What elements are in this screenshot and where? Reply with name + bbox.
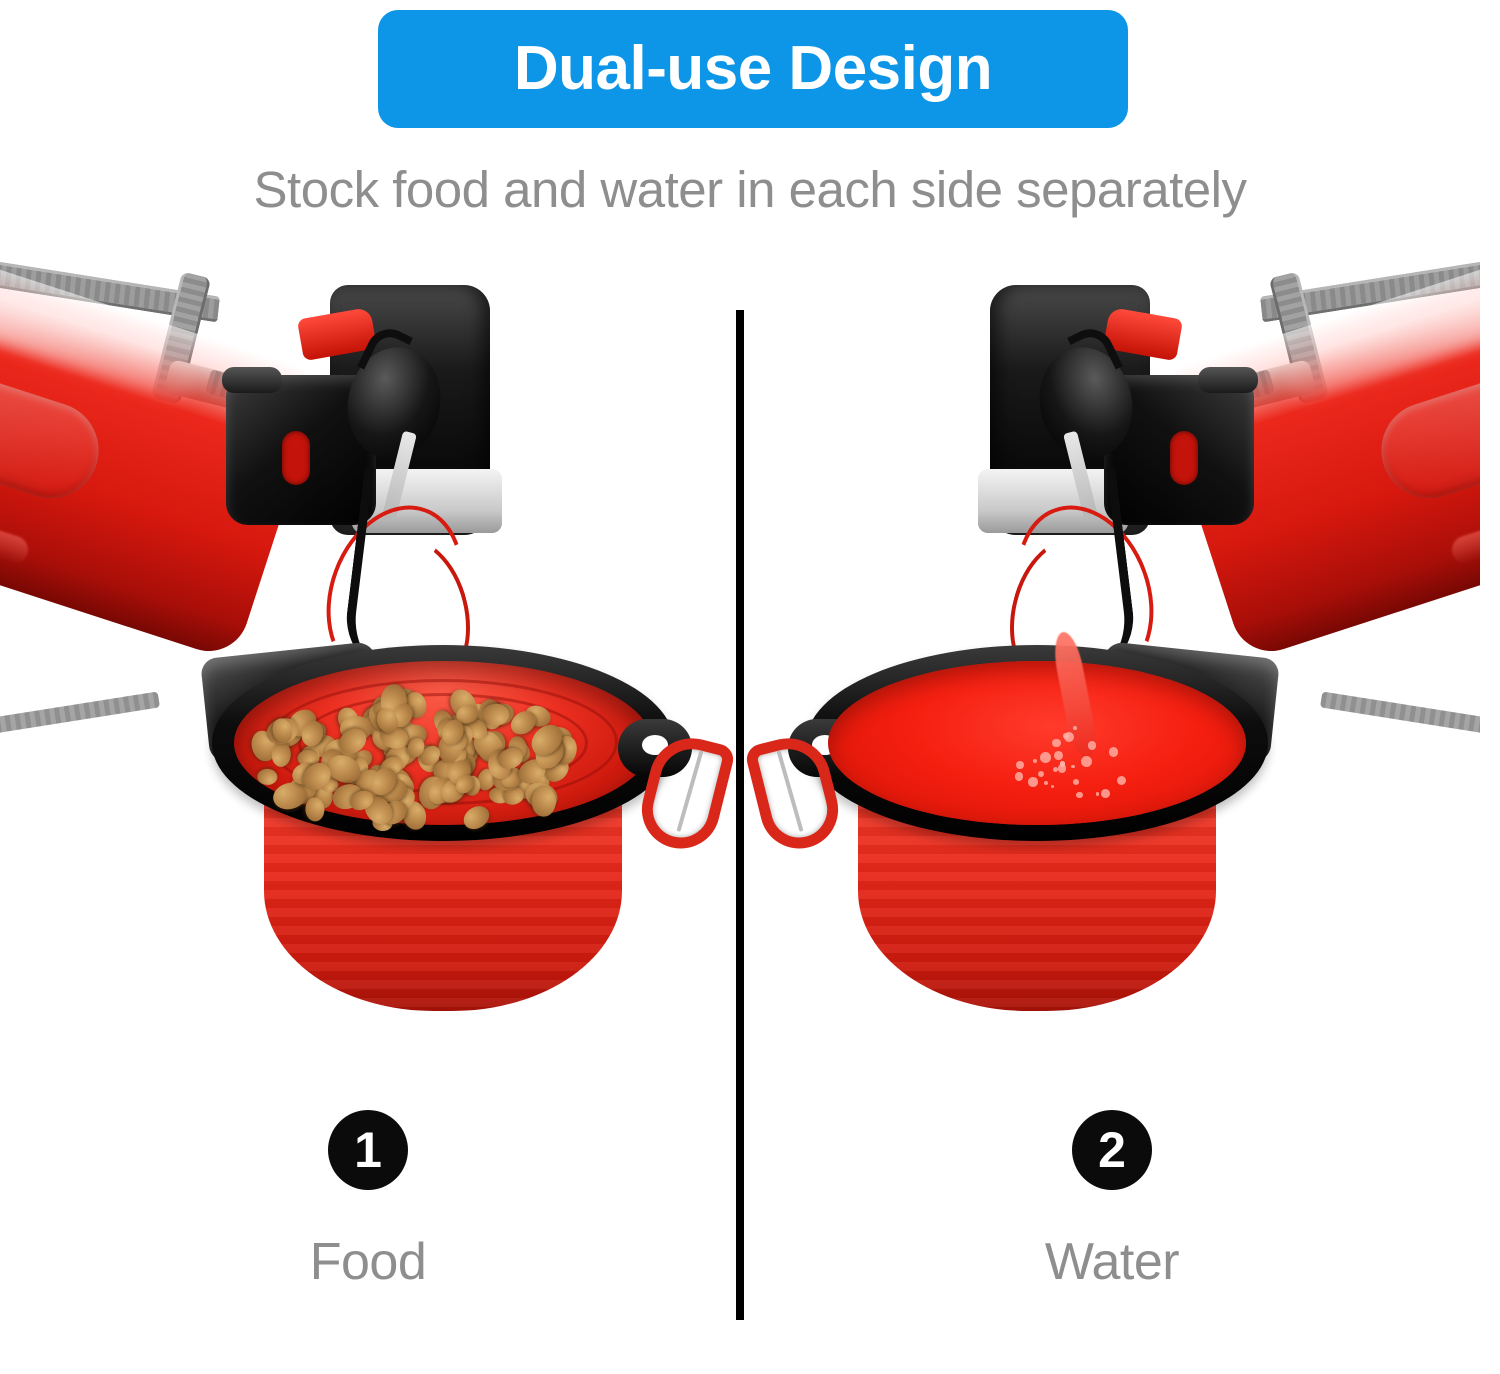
water-droplet [1054, 751, 1063, 760]
lid-clip-lip [222, 367, 282, 393]
step-marker-water: 2 Water [744, 1110, 1480, 1292]
kibble-pellet [271, 742, 291, 768]
step-marker-food: 1 Food [0, 1110, 736, 1292]
water-droplet [1109, 747, 1119, 757]
strap-lower-segment [0, 691, 160, 738]
step-number-badge: 1 [328, 1110, 408, 1190]
water-droplet [1040, 752, 1051, 763]
water-droplet [1015, 772, 1024, 781]
step-number-badge: 2 [1072, 1110, 1152, 1190]
water-droplet [1060, 761, 1066, 767]
lid-clip-slot [282, 431, 310, 485]
kibble-pellet [257, 768, 278, 785]
water-droplet [1071, 765, 1075, 769]
step-label-food: Food [0, 1232, 736, 1292]
water-droplet [1088, 741, 1096, 749]
water-surface [828, 661, 1246, 825]
product-photo-food [0, 255, 736, 1135]
product-photo-water [744, 255, 1480, 1135]
panel-food [0, 255, 736, 1135]
kibble-pellet [531, 786, 555, 817]
water-droplet [1073, 779, 1079, 785]
water-droplet [1028, 777, 1037, 786]
kibble-pellet [459, 801, 494, 834]
lid-clip-slot [1170, 431, 1198, 485]
panel-water [744, 255, 1480, 1135]
strap-lower-segment [1320, 691, 1480, 738]
water-droplet [1051, 785, 1054, 788]
lid-clip-lip [1198, 367, 1258, 393]
water-droplet [1073, 726, 1077, 730]
water-droplet [1033, 759, 1037, 763]
step-label-water: Water [744, 1232, 1480, 1292]
subtitle-text: Stock food and water in each side separa… [0, 160, 1500, 219]
vertical-divider-line [736, 310, 744, 1320]
water-droplet [1016, 761, 1024, 769]
title-badge: Dual-use Design [378, 10, 1128, 128]
dog-food-kibble [246, 685, 596, 835]
page-title: Dual-use Design [514, 38, 992, 100]
infographic-page: Dual-use Design Stock food and water in … [0, 0, 1500, 1374]
water-droplet [1064, 732, 1074, 742]
